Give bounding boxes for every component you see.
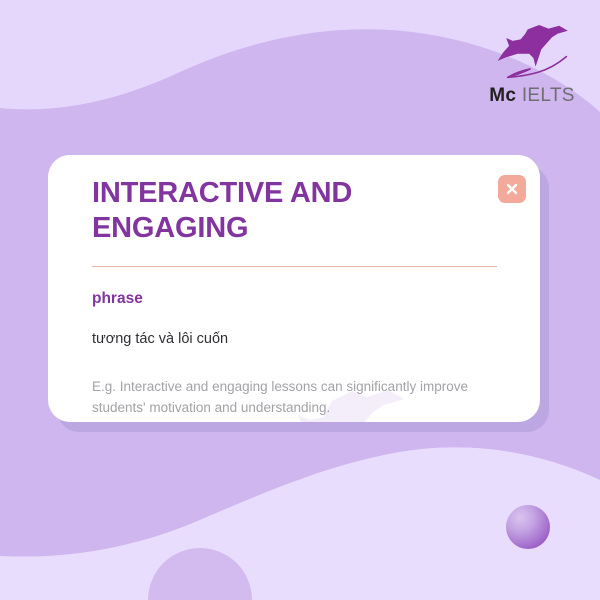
mc-ielts-logo: Mc IELTS [484,22,580,118]
close-button[interactable] [498,175,526,203]
card-content: Interactive and engaging phrase tương tá… [92,176,500,419]
flashcard-screen: Mc IELTS Interactive and engaging phrase… [0,0,600,600]
translation-text: tương tác và lôi cuốn [92,331,500,348]
title-divider [92,266,497,267]
close-icon [505,182,519,196]
word-type-label: phrase [92,291,500,307]
page-title: Interactive and engaging [92,176,392,246]
logo-brand-regular: IELTS [522,85,575,106]
hummingbird-icon [489,22,575,84]
example-sentence: E.g. Interactive and engaging lessons ca… [92,377,500,418]
logo-brand-bold: Mc [489,85,516,106]
gradient-sphere [506,505,550,549]
logo-text: Mc IELTS [489,86,574,105]
